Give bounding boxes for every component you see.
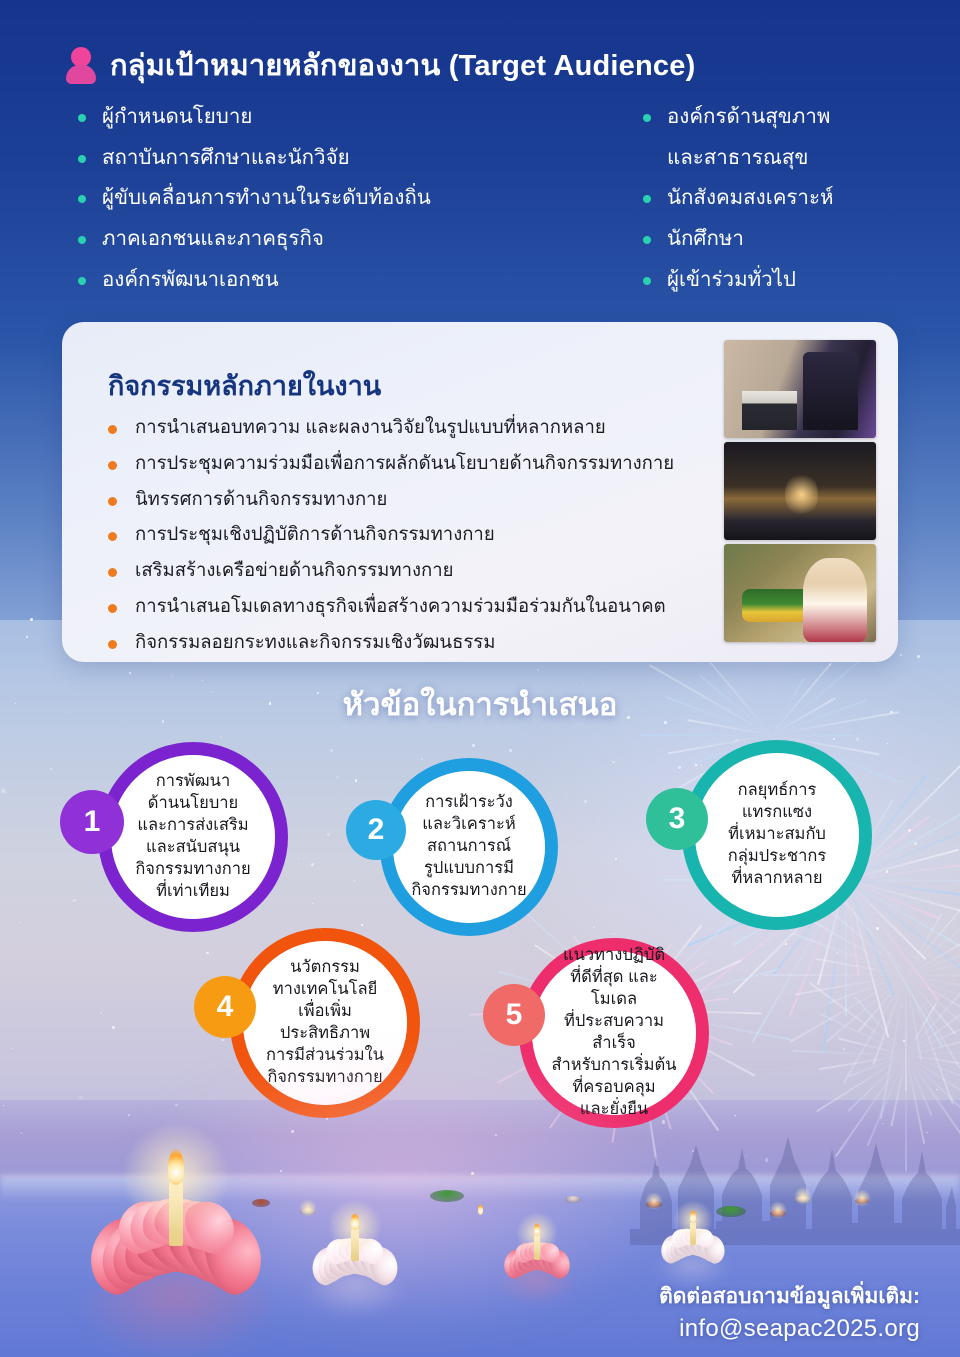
card-title: กิจกรรมหลักภายในงาน [108,364,381,407]
bullet-dot-icon [78,155,86,163]
bullet-spacer [643,155,651,163]
list-item: ผู้เข้าร่วมทั่วไป [643,265,960,295]
topic-text: การเฝ้าระวังและวิเคราะห์สถานการณ์รูปแบบก… [395,792,542,902]
list-item: เสริมสร้างเครือข่ายด้านกิจกรรมทางกาย [108,557,728,584]
topic-text: การพัฒนาด้านนโยบายและการส่งเสริมและสนับส… [119,771,266,903]
bullet-dot-icon [643,195,651,203]
bullet-dot-icon [108,461,117,470]
topic-bubble-3: กลยุทธ์การแทรกแซงที่เหมาะสมกับกลุ่มประชา… [682,740,872,930]
list-item: สถาบันการศึกษาและนักวิจัย [78,143,623,173]
floating-krathong [430,1190,464,1202]
woman-with-krathong-photo [724,544,876,642]
topic-number-badge: 2 [346,800,406,860]
bullet-dot-icon [108,425,117,434]
audience-list-right: องค์กรด้านสุขภาพ และสาธารณสุข นักสังคมสง… [623,102,960,306]
topic-inner: การเฝ้าระวังและวิเคราะห์สถานการณ์รูปแบบก… [393,771,545,923]
candle-flame [168,1149,185,1184]
photo-strip [724,340,876,646]
audience-list-left: ผู้กำหนดนโยบาย สถาบันการศึกษาและนักวิจัย… [0,102,623,306]
lamp-glow [645,1192,663,1210]
list-item: นักสังคมสงเคราะห์ [643,183,960,213]
bullet-dot-icon [78,195,86,203]
topic-number-badge: 1 [60,790,124,854]
bullet-dot-icon [108,604,117,613]
list-item: ผู้ขับเคลื่อนการทำงานในระดับท้องถิ่น [78,183,623,213]
bullet-dot-icon [643,114,651,122]
speaker-at-podium-photo [724,340,876,438]
list-item: การนำเสนอโมเดลทางธุรกิจเพื่อสร้างความร่ว… [108,593,728,620]
topic-number-badge: 3 [646,788,708,850]
topic-bubble-1: การพัฒนาด้านนโยบายและการส่งเสริมและสนับส… [98,742,288,932]
list-item: การประชุมความร่วมมือเพื่อการผลักดันนโยบา… [108,450,728,477]
list-item: นักศึกษา [643,224,960,254]
bullet-dot-icon [643,277,651,285]
activities-card: กิจกรรมหลักภายในงาน การนำเสนอบทความ และผ… [62,322,898,662]
list-item: นิทรรศการด้านกิจกรรมทางกาย [108,486,728,513]
list-item: ภาคเอกชนและภาคธุรกิจ [78,224,623,254]
bullet-dot-icon [78,236,86,244]
person-icon [66,47,96,83]
pink-lotus-with-candle [46,1148,306,1308]
candle-flame [690,1210,696,1223]
bullet-dot-icon [78,277,86,285]
floating-krathong [565,1196,581,1203]
candle-flame [351,1213,359,1231]
candle-flame [534,1223,541,1237]
lamp-glow [853,1189,871,1207]
topic-number-badge: 4 [194,976,256,1038]
topic-text: กลยุทธ์การแทรกแซงที่เหมาะสมกับกลุ่มประชา… [712,780,843,890]
lamp-glow [794,1187,812,1205]
pink-small-lotus-with-candle [487,1222,587,1284]
activities-list: การนำเสนอบทความ และผลงานวิจัยในรูปแบบที่… [108,414,728,665]
topic-inner: การพัฒนาด้านนโยบายและการส่งเสริมและสนับส… [111,755,275,919]
topic-number-badge: 5 [483,984,545,1046]
list-item-continuation: และสาธารณสุข [643,143,960,173]
white-small-lotus-with-candle [645,1210,741,1268]
contact-label: ติดต่อสอบถามข้อมูลเพิ่มเติม: [500,1283,920,1312]
list-item: การประชุมเชิงปฏิบัติการด้านกิจกรรมทางกาย [108,521,728,548]
networking-reception-photo [724,442,876,540]
contact-block: ติดต่อสอบถามข้อมูลเพิ่มเติม: info@seapac… [500,1283,920,1345]
bullet-dot-icon [643,236,651,244]
topics-heading: หัวข้อในการนำเสนอ [0,679,960,729]
water-reflection [72,1273,280,1357]
bullet-dot-icon [108,497,117,506]
list-item: การนำเสนอบทความ และผลงานวิจัยในรูปแบบที่… [108,414,728,441]
page-title: กลุ่มเป้าหมายหลักของงาน (Target Audience… [110,42,695,88]
poster-root: กลุ่มเป้าหมายหลักของงาน (Target Audience… [0,0,960,1357]
candle-flame [478,1204,483,1215]
topic-bubble-2: การเฝ้าระวังและวิเคราะห์สถานการณ์รูปแบบก… [380,758,558,936]
list-item: องค์กรด้านสุขภาพ [643,102,960,132]
list-item: ผู้กำหนดนโยบาย [78,102,623,132]
bullet-dot-icon [108,640,117,649]
lamp-glow [769,1201,787,1219]
list-item: กิจกรรมลอยกระทงและกิจกรรมเชิงวัฒนธรรม [108,629,728,656]
list-item: องค์กรพัฒนาเอกชน [78,265,623,295]
white-lotus-with-candle [290,1212,420,1292]
bullet-dot-icon [108,532,117,541]
topic-inner: กลยุทธ์การแทรกแซงที่เหมาะสมกับกลุ่มประชา… [695,753,859,917]
bullet-dot-icon [78,114,86,122]
audience-section: กลุ่มเป้าหมายหลักของงาน (Target Audience… [0,0,960,306]
contact-email[interactable]: info@seapac2025.org [500,1312,920,1345]
bullet-dot-icon [108,568,117,577]
